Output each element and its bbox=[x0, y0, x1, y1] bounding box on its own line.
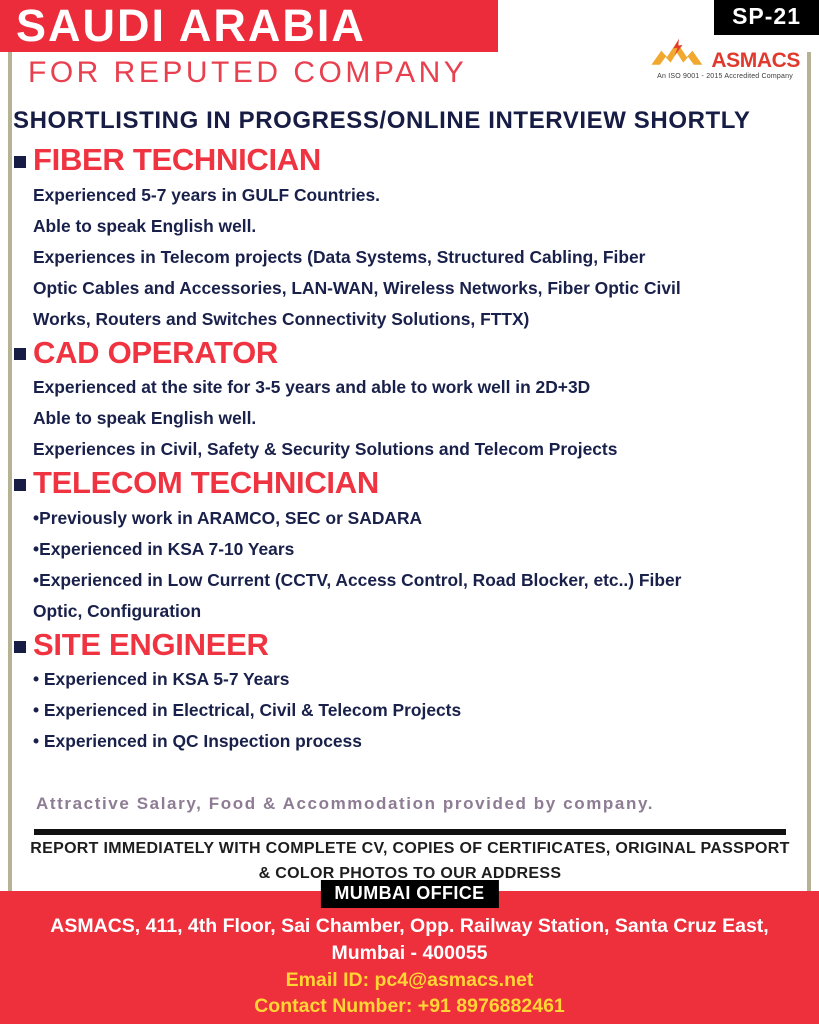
left-border-rail bbox=[8, 52, 12, 891]
job-requirement-line: Optic, Configuration bbox=[33, 596, 804, 627]
job-title: SITE ENGINEER bbox=[33, 627, 269, 664]
job-list: FIBER TECHNICIAN Experienced 5-7 years i… bbox=[14, 142, 804, 757]
job-entry: CAD OPERATOR Experienced at the site for… bbox=[14, 335, 804, 466]
contact-details: Email ID: pc4@asmacs.net Contact Number:… bbox=[20, 967, 799, 1019]
job-requirements: Experienced at the site for 3-5 years an… bbox=[14, 372, 804, 465]
perks-note: Attractive Salary, Food & Accommodation … bbox=[36, 794, 654, 814]
email-line[interactable]: Email ID: pc4@asmacs.net bbox=[20, 967, 799, 993]
job-title: CAD OPERATOR bbox=[33, 335, 278, 372]
shortlisting-notice: SHORTLISTING IN PROGRESS/ONLINE INTERVIE… bbox=[13, 107, 750, 135]
job-requirements: •Previously work in ARAMCO, SEC or SADAR… bbox=[14, 503, 804, 627]
job-requirement-line: Experiences in Civil, Safety & Security … bbox=[33, 434, 804, 465]
office-badge: MUMBAI OFFICE bbox=[320, 880, 498, 908]
job-title-row: SITE ENGINEER bbox=[14, 627, 804, 664]
square-bullet-icon bbox=[14, 348, 26, 360]
job-title: FIBER TECHNICIAN bbox=[33, 142, 321, 179]
job-requirement-line: •Previously work in ARAMCO, SEC or SADAR… bbox=[33, 503, 804, 534]
job-title-row: TELECOM TECHNICIAN bbox=[14, 465, 804, 502]
job-requirement-line: Works, Routers and Switches Connectivity… bbox=[33, 304, 804, 335]
job-requirement-line: Optic Cables and Accessories, LAN-WAN, W… bbox=[33, 273, 804, 304]
square-bullet-icon bbox=[14, 156, 26, 168]
contact-footer: MUMBAI OFFICE ASMACS, 411, 4th Floor, Sa… bbox=[0, 891, 819, 1024]
asmacs-logo: ASMACS An ISO 9001 - 2015 Accredited Com… bbox=[650, 32, 800, 80]
job-entry: TELECOM TECHNICIAN •Previously work in A… bbox=[14, 465, 804, 627]
job-code-badge: SP-21 bbox=[714, 0, 819, 35]
subtitle-for-reputed-company: FOR REPUTED COMPANY bbox=[28, 56, 467, 90]
job-requirement-line: • Experienced in QC Inspection process bbox=[33, 726, 804, 757]
office-address: ASMACS, 411, 4th Floor, Sai Chamber, Opp… bbox=[20, 913, 799, 967]
job-advertisement-poster: SAUDI ARABIA SP-21 ASMACS An ISO 9001 - … bbox=[0, 0, 819, 1024]
logo-tagline: An ISO 9001 - 2015 Accredited Company bbox=[650, 73, 800, 80]
logo-mark: ASMACS bbox=[650, 32, 800, 72]
logo-wordmark: ASMACS bbox=[711, 50, 800, 71]
office-address-line-1: ASMACS, 411, 4th Floor, Sai Chamber, Opp… bbox=[20, 913, 799, 940]
country-banner: SAUDI ARABIA bbox=[0, 0, 498, 52]
job-entry: FIBER TECHNICIAN Experienced 5-7 years i… bbox=[14, 142, 804, 335]
job-requirement-line: Experienced 5-7 years in GULF Countries. bbox=[33, 180, 804, 211]
square-bullet-icon bbox=[14, 641, 26, 653]
job-entry: SITE ENGINEER • Experienced in KSA 5-7 Y… bbox=[14, 627, 804, 758]
job-requirements: Experienced 5-7 years in GULF Countries.… bbox=[14, 180, 804, 335]
report-instructions-line-1: REPORT IMMEDIATELY WITH COMPLETE CV, COP… bbox=[14, 836, 806, 861]
job-requirements: • Experienced in KSA 5-7 Years • Experie… bbox=[14, 664, 804, 757]
job-requirement-line: Experiences in Telecom projects (Data Sy… bbox=[33, 242, 804, 273]
job-title-row: FIBER TECHNICIAN bbox=[14, 142, 804, 179]
job-requirement-line: Able to speak English well. bbox=[33, 211, 804, 242]
job-title-row: CAD OPERATOR bbox=[14, 335, 804, 372]
job-requirement-line: • Experienced in Electrical, Civil & Tel… bbox=[33, 695, 804, 726]
job-requirement-line: Able to speak English well. bbox=[33, 403, 804, 434]
footer-divider bbox=[34, 829, 786, 835]
phone-line[interactable]: Contact Number: +91 8976882461 bbox=[20, 993, 799, 1019]
country-title: SAUDI ARABIA bbox=[0, 0, 498, 52]
mountain-logo-icon bbox=[650, 32, 709, 72]
office-address-line-2: Mumbai - 400055 bbox=[20, 940, 799, 967]
job-requirement-line: Experienced at the site for 3-5 years an… bbox=[33, 372, 804, 403]
job-title: TELECOM TECHNICIAN bbox=[33, 465, 379, 502]
square-bullet-icon bbox=[14, 479, 26, 491]
job-requirement-line: •Experienced in KSA 7-10 Years bbox=[33, 534, 804, 565]
job-requirement-line: •Experienced in Low Current (CCTV, Acces… bbox=[33, 565, 804, 596]
right-border-rail bbox=[807, 52, 811, 891]
report-instructions: REPORT IMMEDIATELY WITH COMPLETE CV, COP… bbox=[14, 836, 806, 886]
job-requirement-line: • Experienced in KSA 5-7 Years bbox=[33, 664, 804, 695]
